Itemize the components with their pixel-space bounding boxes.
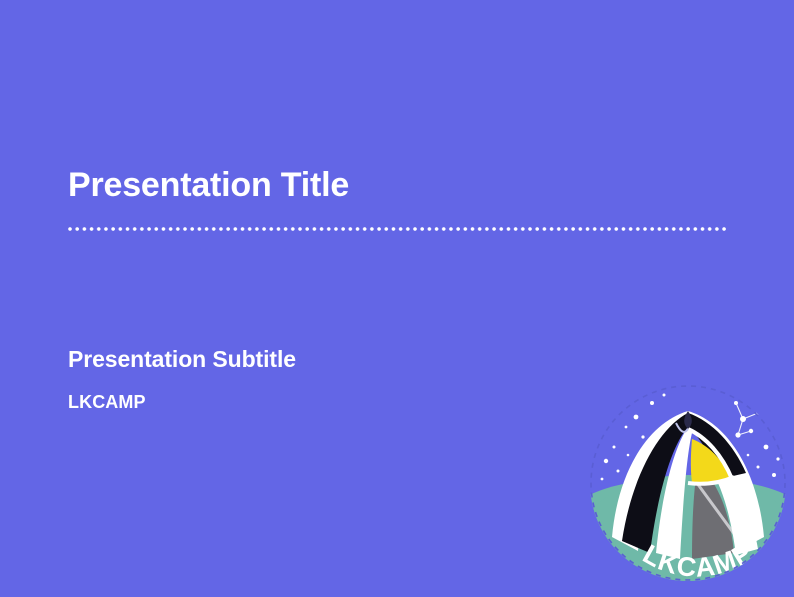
- dotted-divider: [68, 226, 729, 232]
- logo-disc: LKCAMP: [588, 385, 792, 591]
- page-title: Presentation Title: [68, 165, 730, 205]
- title-block: Presentation Title: [68, 165, 730, 205]
- lkcamp-logo: LKCAMP: [588, 383, 792, 597]
- subtitle-block: Presentation Subtitle LKCAMP: [68, 344, 568, 413]
- page-subtitle: Presentation Subtitle: [68, 344, 568, 374]
- author-label: LKCAMP: [68, 391, 568, 413]
- presentation-slide: Presentation Title Presentation Subtitle…: [0, 0, 794, 597]
